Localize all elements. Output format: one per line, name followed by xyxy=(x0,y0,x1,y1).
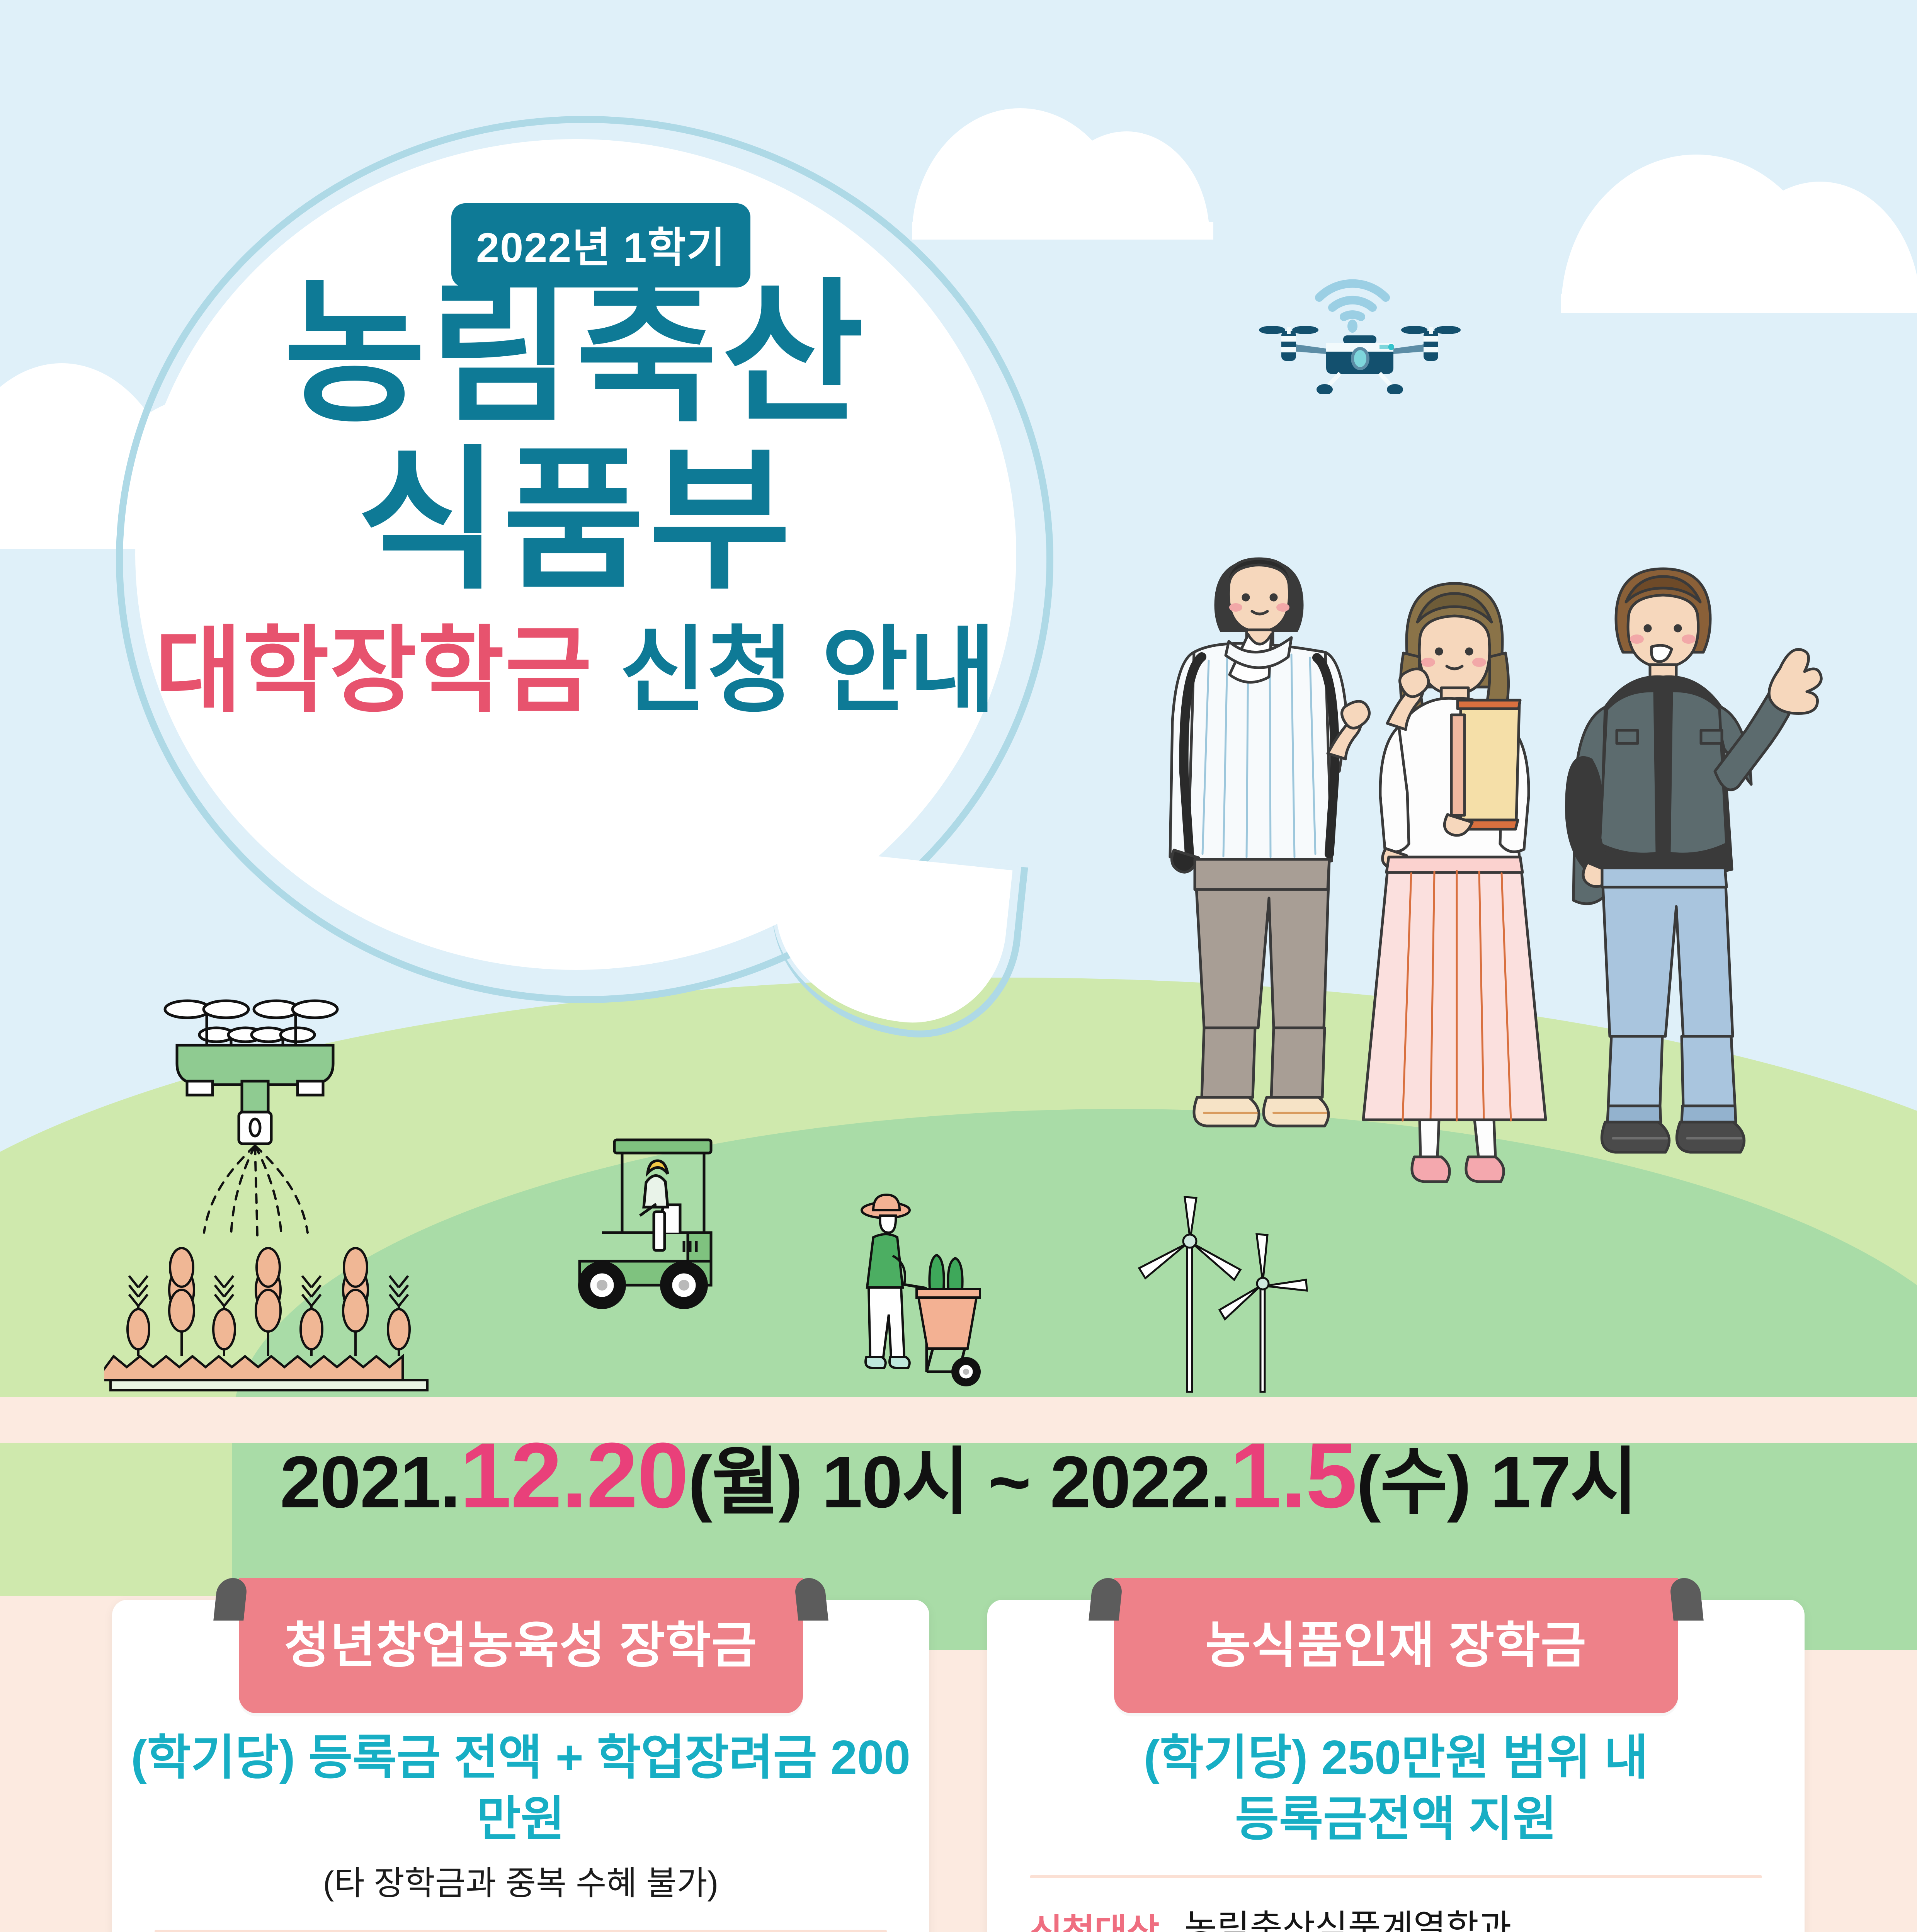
card-ribbon: 농식품인재 장학금 xyxy=(1114,1578,1678,1713)
card-title: 농식품인재 장학금 xyxy=(1114,1578,1678,1713)
period-end-date: 1.5 xyxy=(1230,1423,1357,1527)
card-amount-note: (타 장학금과 중복 수혜 불가) xyxy=(112,1856,929,1904)
card-amount: (학기당) 등록금 전액 + 학업장려금 200만원 xyxy=(112,1727,929,1850)
cloud-base xyxy=(1561,294,1917,313)
card-row: 신청대상 농림축산식품계열학과 1학년 2학기~2학년 2학기 재학생 (전문대… xyxy=(1030,1903,1762,1932)
row-label: 신청대상 xyxy=(1030,1903,1184,1932)
wheat-field-icon xyxy=(104,1190,464,1399)
students-illustration xyxy=(1132,460,1855,1217)
card-divider xyxy=(1030,1875,1762,1878)
card-amount: (학기당) 250만원 범위 내 등록금전액 지원 xyxy=(987,1727,1805,1850)
poster-root: 2022년 1학기 농림축산 식품부 대학장학금 신청 안내 2021.12.2… xyxy=(0,0,1917,1932)
drone-wifi-icon xyxy=(1229,247,1476,394)
title-scholarship-word: 대학장학금 xyxy=(155,618,592,723)
period-end-year: 2022. xyxy=(1050,1441,1230,1523)
cloud-base xyxy=(912,222,1213,240)
poster-title: 농림축산 식품부 대학장학금 신청 안내 xyxy=(131,270,1020,728)
period-start-year: 2021. xyxy=(280,1441,459,1523)
title-line-2: 식품부 xyxy=(131,437,1020,604)
scholarship-card-agrifood-talent: 농식품인재 장학금 (학기당) 250만원 범위 내 등록금전액 지원 신청대상… xyxy=(987,1600,1805,1932)
application-period: 2021.12.20(월) 10시 ~ 2022.1.5(수) 17시 xyxy=(0,1422,1917,1529)
period-start-date: 12.20 xyxy=(460,1423,688,1527)
tractor-icon xyxy=(556,1136,757,1314)
card-rows: 신청대상 농림축산식품계열학과 1학년 2학기~2학년 2학기 재학생 (전문대… xyxy=(987,1878,1805,1932)
period-end-rest: (수) 17시 xyxy=(1356,1441,1637,1523)
row-body: 농림축산식품계열학과 1학년 2학기~2학년 2학기 재학생 (전문대 제외) xyxy=(1184,1903,1834,1932)
card-divider xyxy=(155,1930,887,1932)
card-title: 청년창업농육성 장학금 xyxy=(239,1578,803,1713)
farmer-with-wheelbarrow-icon xyxy=(850,1190,1036,1399)
row-text: 농림축산식품계열학과 xyxy=(1184,1903,1834,1932)
card-ribbon: 청년창업농육성 장학금 xyxy=(239,1578,803,1713)
title-apply-word: 신청 안내 xyxy=(619,618,997,723)
title-line-1: 농림축산 xyxy=(131,270,1020,437)
scholarship-cards: 청년창업농육성 장학금 (학기당) 등록금 전액 + 학업장려금 200만원 (… xyxy=(112,1600,1805,1932)
wind-turbine-icon xyxy=(1128,1194,1333,1399)
period-start-rest: (월) 10시 ~ xyxy=(688,1441,1050,1523)
scholarship-card-youth-startup: 청년창업농육성 장학금 (학기당) 등록금 전액 + 학업장려금 200만원 (… xyxy=(112,1600,929,1932)
title-line-3: 대학장학금 신청 안내 xyxy=(131,614,1020,728)
